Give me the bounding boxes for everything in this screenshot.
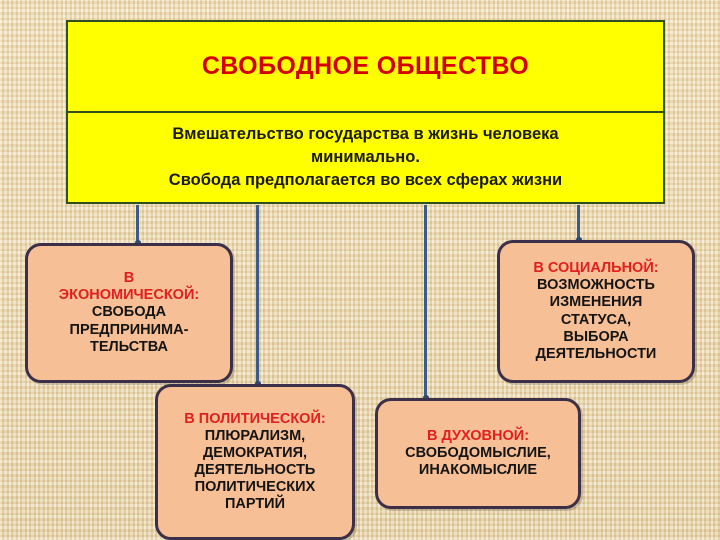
node-social-body: ВОЗМОЖНОСТЬ ИЗМЕНЕНИЯ СТАТУСА, ВЫБОРА ДЕ… — [536, 277, 657, 363]
connector-to-social — [577, 205, 580, 240]
connector-to-political — [256, 205, 259, 384]
node-political[interactable]: В ПОЛИТИЧЕСКОЙ: ПЛЮРАЛИЗМ, ДЕМОКРАТИЯ, Д… — [155, 384, 355, 540]
banner-title-row: СВОБОДНОЕ ОБЩЕСТВО — [68, 22, 663, 113]
banner-subtitle-line-3: Свобода предполагается во всех сферах жи… — [169, 169, 562, 192]
node-political-body-line-2: ДЕМОКРАТИЯ, — [195, 445, 316, 462]
node-social-heading-line-1: В СОЦИАЛЬНОЙ: — [533, 260, 658, 277]
node-economic-heading-line-1: В — [59, 270, 199, 287]
slide-canvas: СВОБОДНОЕ ОБЩЕСТВО Вмешательство государ… — [0, 0, 720, 540]
connector-to-economic — [136, 205, 139, 243]
banner-subtitle-line-2: минимально. — [169, 146, 562, 169]
node-spiritual-heading-line-1: В ДУХОВНОЙ: — [427, 428, 529, 445]
node-spiritual-body-line-1: СВОБОДОМЫСЛИЕ, — [405, 445, 551, 462]
node-social-body-line-3: СТАТУСА, — [536, 312, 657, 329]
banner-subtitle-row: Вмешательство государства в жизнь челове… — [68, 113, 663, 202]
node-spiritual-heading: В ДУХОВНОЙ: — [427, 428, 529, 445]
node-social-body-line-5: ДЕЯТЕЛЬНОСТИ — [536, 346, 657, 363]
banner-subtitle-line-1: Вмешательство государства в жизнь челове… — [169, 123, 562, 146]
node-social-body-line-1: ВОЗМОЖНОСТЬ — [536, 277, 657, 294]
node-social-body-line-2: ИЗМЕНЕНИЯ — [536, 294, 657, 311]
node-social-body-line-4: ВЫБОРА — [536, 329, 657, 346]
node-political-body: ПЛЮРАЛИЗМ, ДЕМОКРАТИЯ, ДЕЯТЕЛЬНОСТЬ ПОЛИ… — [195, 428, 316, 514]
page-title: СВОБОДНОЕ ОБЩЕСТВО — [202, 52, 529, 81]
node-economic-body-line-2: ПРЕДПРИНИМА- — [70, 322, 189, 339]
node-spiritual[interactable]: В ДУХОВНОЙ: СВОБОДОМЫСЛИЕ, ИНАКОМЫСЛИЕ — [375, 398, 581, 509]
banner-subtitle: Вмешательство государства в жизнь челове… — [161, 123, 570, 191]
node-economic-heading-line-2: ЭКОНОМИЧЕСКОЙ: — [59, 287, 199, 304]
node-social-heading: В СОЦИАЛЬНОЙ: — [533, 260, 658, 277]
node-economic-body-line-3: ТЕЛЬСТВА — [70, 339, 189, 356]
node-political-heading-line-1: В ПОЛИТИЧЕСКОЙ: — [184, 411, 325, 428]
node-economic-heading: В ЭКОНОМИЧЕСКОЙ: — [59, 270, 199, 304]
connector-to-spiritual — [424, 205, 427, 398]
node-political-body-line-5: ПАРТИЙ — [195, 496, 316, 513]
node-political-body-line-1: ПЛЮРАЛИЗМ, — [195, 428, 316, 445]
node-political-heading: В ПОЛИТИЧЕСКОЙ: — [184, 411, 325, 428]
node-political-body-line-3: ДЕЯТЕЛЬНОСТЬ — [195, 462, 316, 479]
node-spiritual-body-line-2: ИНАКОМЫСЛИЕ — [405, 462, 551, 479]
node-political-body-line-4: ПОЛИТИЧЕСКИХ — [195, 479, 316, 496]
node-economic[interactable]: В ЭКОНОМИЧЕСКОЙ: СВОБОДА ПРЕДПРИНИМА- ТЕ… — [25, 243, 233, 383]
node-spiritual-body: СВОБОДОМЫСЛИЕ, ИНАКОМЫСЛИЕ — [405, 445, 551, 479]
node-economic-body-line-1: СВОБОДА — [70, 304, 189, 321]
node-economic-body: СВОБОДА ПРЕДПРИНИМА- ТЕЛЬСТВА — [70, 304, 189, 355]
node-social[interactable]: В СОЦИАЛЬНОЙ: ВОЗМОЖНОСТЬ ИЗМЕНЕНИЯ СТАТ… — [497, 240, 695, 383]
title-banner: СВОБОДНОЕ ОБЩЕСТВО Вмешательство государ… — [66, 20, 665, 204]
